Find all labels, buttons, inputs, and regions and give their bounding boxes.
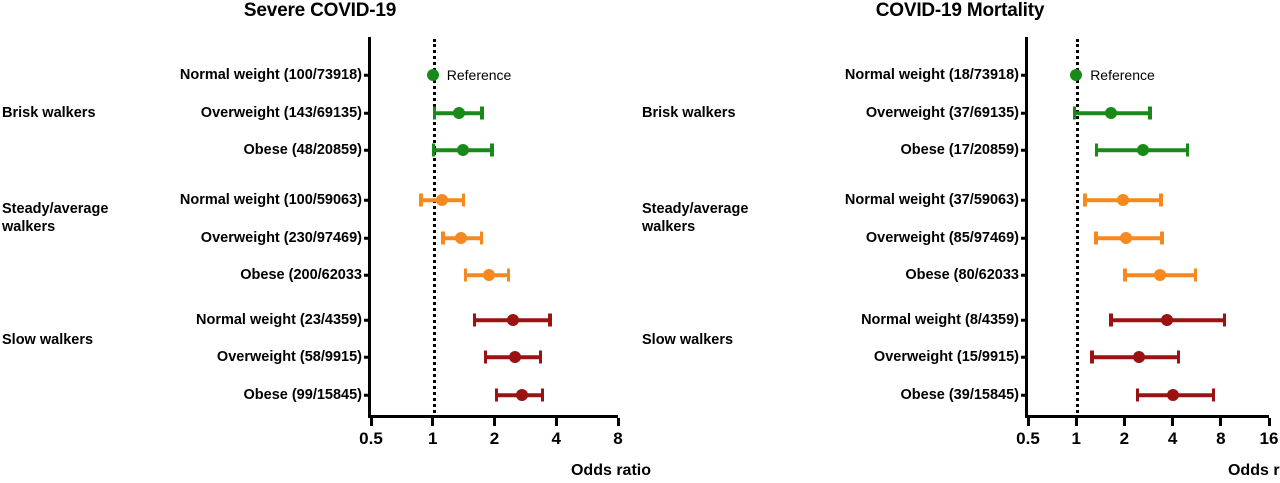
ci-cap-lower xyxy=(1083,194,1087,207)
ci-cap-upper xyxy=(1177,351,1181,364)
x-axis-title: Odds ratio xyxy=(640,462,1280,480)
row-label: Normal weight (23/4359) xyxy=(196,312,362,328)
y-axis-line xyxy=(368,37,371,415)
row-tick xyxy=(364,74,371,77)
row-label: Overweight (37/69135) xyxy=(866,105,1019,121)
ci-cap-lower xyxy=(464,269,468,282)
group-label-0: Brisk walkers xyxy=(642,104,736,122)
point-estimate xyxy=(453,107,465,119)
group-label-1: Steady/average walkers xyxy=(642,200,748,236)
x-axis-line xyxy=(1025,415,1269,418)
ci-cap-upper xyxy=(1159,194,1163,207)
row-tick xyxy=(364,149,371,152)
x-tick-label: 4 xyxy=(1168,429,1177,449)
chart-title: COVID-19 Mortality xyxy=(640,0,1280,22)
row-label: Normal weight (37/59063) xyxy=(845,192,1019,208)
row-label: Normal weight (100/59063) xyxy=(180,192,362,208)
row-label: Obese (17/20859) xyxy=(901,142,1020,158)
point-estimate xyxy=(1167,389,1179,401)
x-tick xyxy=(493,418,496,426)
ci-cap-lower xyxy=(432,144,436,157)
x-tick xyxy=(555,418,558,426)
point-estimate xyxy=(427,69,439,81)
row-tick xyxy=(1021,274,1028,277)
row-tick xyxy=(364,237,371,240)
x-tick-label: 1 xyxy=(1071,429,1080,449)
group-label-2: Slow walkers xyxy=(2,331,93,349)
ci-cap-lower xyxy=(419,194,423,207)
row-tick xyxy=(1021,319,1028,322)
point-estimate xyxy=(1161,314,1173,326)
row-label: Obese (48/20859) xyxy=(244,142,363,158)
ci-cap-upper xyxy=(507,269,511,282)
ci-cap-lower xyxy=(1094,232,1098,245)
ci-cap-upper xyxy=(490,144,494,157)
ci-cap-lower xyxy=(1136,389,1140,402)
x-tick xyxy=(1171,418,1174,426)
row-label: Overweight (85/97469) xyxy=(866,230,1019,246)
point-estimate xyxy=(1070,69,1082,81)
row-tick xyxy=(1021,74,1028,77)
panel-severe-covid: Severe COVID-190.51248Odds ratioBrisk wa… xyxy=(0,0,640,483)
point-estimate xyxy=(1105,107,1117,119)
row-label: Overweight (230/97469) xyxy=(201,230,362,246)
ci-cap-lower xyxy=(441,232,445,245)
row-label: Overweight (143/69135) xyxy=(201,105,362,121)
panel-covid-mortality: COVID-19 Mortality0.5124816Odds ratioBri… xyxy=(640,0,1280,483)
group-label-1: Steady/average walkers xyxy=(2,200,108,236)
point-estimate xyxy=(509,351,521,363)
x-tick-label: 0.5 xyxy=(359,429,383,449)
group-label-0: Brisk walkers xyxy=(2,104,96,122)
x-tick xyxy=(1268,418,1271,426)
row-label: Normal weight (8/4359) xyxy=(861,312,1019,328)
ci-cap-upper xyxy=(1212,389,1216,402)
ci-cap-upper xyxy=(1194,269,1198,282)
row-tick xyxy=(364,319,371,322)
ci-cap-upper xyxy=(541,389,545,402)
row-label: Normal weight (18/73918) xyxy=(845,67,1019,83)
ci-cap-lower xyxy=(473,314,477,327)
row-tick xyxy=(1021,356,1028,359)
group-label-2: Slow walkers xyxy=(642,331,733,349)
point-estimate xyxy=(1120,232,1132,244)
x-tick xyxy=(1027,418,1030,426)
reference-label: Reference xyxy=(1090,67,1155,83)
ci-cap-lower xyxy=(433,107,437,120)
row-label: Obese (80/62033 xyxy=(905,267,1019,283)
ci-cap-upper xyxy=(1186,144,1190,157)
ci-cap-upper xyxy=(539,351,543,364)
ci-cap-upper xyxy=(1223,314,1227,327)
ci-cap-lower xyxy=(1095,144,1099,157)
reference-label: Reference xyxy=(447,67,512,83)
x-tick-label: 8 xyxy=(1216,429,1225,449)
x-tick xyxy=(617,418,620,426)
ci-cap-upper xyxy=(462,194,466,207)
row-label: Overweight (15/9915) xyxy=(874,349,1019,365)
ci-cap-upper xyxy=(480,107,484,120)
ci-cap-upper xyxy=(1148,107,1152,120)
x-tick xyxy=(431,418,434,426)
ci-cap-lower xyxy=(495,389,499,402)
row-tick xyxy=(364,274,371,277)
ci-cap-lower xyxy=(1109,314,1113,327)
point-estimate xyxy=(1154,269,1166,281)
row-tick xyxy=(364,356,371,359)
row-label: Obese (99/15845) xyxy=(244,387,363,403)
x-tick-label: 8 xyxy=(613,429,622,449)
point-estimate xyxy=(516,389,528,401)
row-tick xyxy=(1021,149,1028,152)
reference-line xyxy=(1076,39,1079,413)
x-tick xyxy=(1219,418,1222,426)
point-estimate xyxy=(507,314,519,326)
x-tick xyxy=(1123,418,1126,426)
ci-cap-upper xyxy=(548,314,552,327)
reference-line xyxy=(433,39,436,413)
ci-cap-lower xyxy=(1090,351,1094,364)
chart-title: Severe COVID-19 xyxy=(0,0,640,22)
ci-cap-lower xyxy=(1123,269,1127,282)
point-estimate xyxy=(1137,144,1149,156)
row-tick xyxy=(364,112,371,115)
row-label: Obese (200/62033 xyxy=(240,267,362,283)
row-tick xyxy=(364,199,371,202)
x-tick-label: 16 xyxy=(1260,429,1279,449)
point-estimate xyxy=(455,232,467,244)
row-tick xyxy=(1021,237,1028,240)
x-tick xyxy=(1075,418,1078,426)
point-estimate xyxy=(436,194,448,206)
row-tick xyxy=(364,394,371,397)
point-estimate xyxy=(483,269,495,281)
point-estimate xyxy=(1133,351,1145,363)
ci-cap-lower xyxy=(1073,107,1077,120)
row-tick xyxy=(1021,112,1028,115)
x-tick-label: 1 xyxy=(428,429,437,449)
x-tick-label: 2 xyxy=(490,429,499,449)
point-estimate xyxy=(1117,194,1129,206)
row-label: Obese (39/15845) xyxy=(901,387,1020,403)
x-tick-label: 2 xyxy=(1120,429,1129,449)
x-tick xyxy=(370,418,373,426)
y-axis-line xyxy=(1025,37,1028,415)
row-label: Overweight (58/9915) xyxy=(217,349,362,365)
x-tick-label: 4 xyxy=(552,429,561,449)
ci-cap-upper xyxy=(480,232,484,245)
row-tick xyxy=(1021,394,1028,397)
ci-cap-lower xyxy=(484,351,488,364)
row-label: Normal weight (100/73918) xyxy=(180,67,362,83)
point-estimate xyxy=(457,144,469,156)
x-tick-label: 0.5 xyxy=(1016,429,1040,449)
row-tick xyxy=(1021,199,1028,202)
ci-cap-upper xyxy=(1160,232,1164,245)
